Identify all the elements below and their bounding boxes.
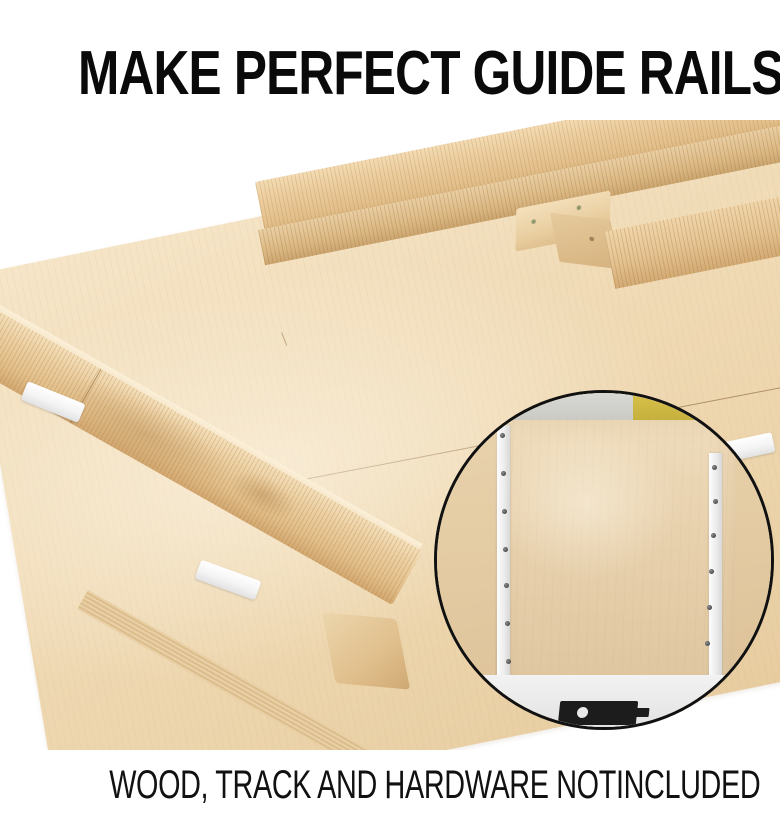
bracket-tab (633, 708, 650, 717)
screw-head-icon (712, 465, 717, 470)
bracket-hole (576, 707, 588, 718)
screw-head-icon (713, 499, 718, 504)
screw-head-icon (532, 219, 536, 224)
screw-head-icon (503, 547, 508, 552)
screw-head-icon (506, 659, 511, 664)
screw-head-icon (504, 583, 509, 588)
screw-head-icon (705, 641, 710, 646)
plywood-kerf-mark (281, 332, 287, 345)
screw-head-icon (500, 433, 505, 438)
plywood-fence-panel (495, 420, 735, 698)
black-hold-down-bracket (558, 701, 639, 725)
front-rail-end-cap (322, 612, 410, 689)
screw-head-icon (707, 605, 712, 610)
screw-head-icon (502, 509, 507, 514)
circular-detail-photo (434, 390, 774, 730)
screw-head-icon (589, 237, 594, 241)
screw-head-icon (501, 471, 506, 476)
product-photo (0, 120, 780, 750)
product-listing-image: MAKE PERFECT GUIDE RAILS (0, 0, 780, 825)
screw-head-icon (709, 569, 714, 574)
screw-head-icon (577, 205, 581, 210)
screw-head-icon (711, 533, 716, 538)
screw-head-icon (505, 621, 510, 626)
inset-background-shelf (437, 393, 771, 423)
white-guide-strip-right (709, 453, 722, 703)
disclaimer-text: WOOD, TRACK AND HARDWARE NOTINCLUDED (109, 762, 671, 808)
page-title: MAKE PERFECT GUIDE RAILS (78, 40, 702, 108)
